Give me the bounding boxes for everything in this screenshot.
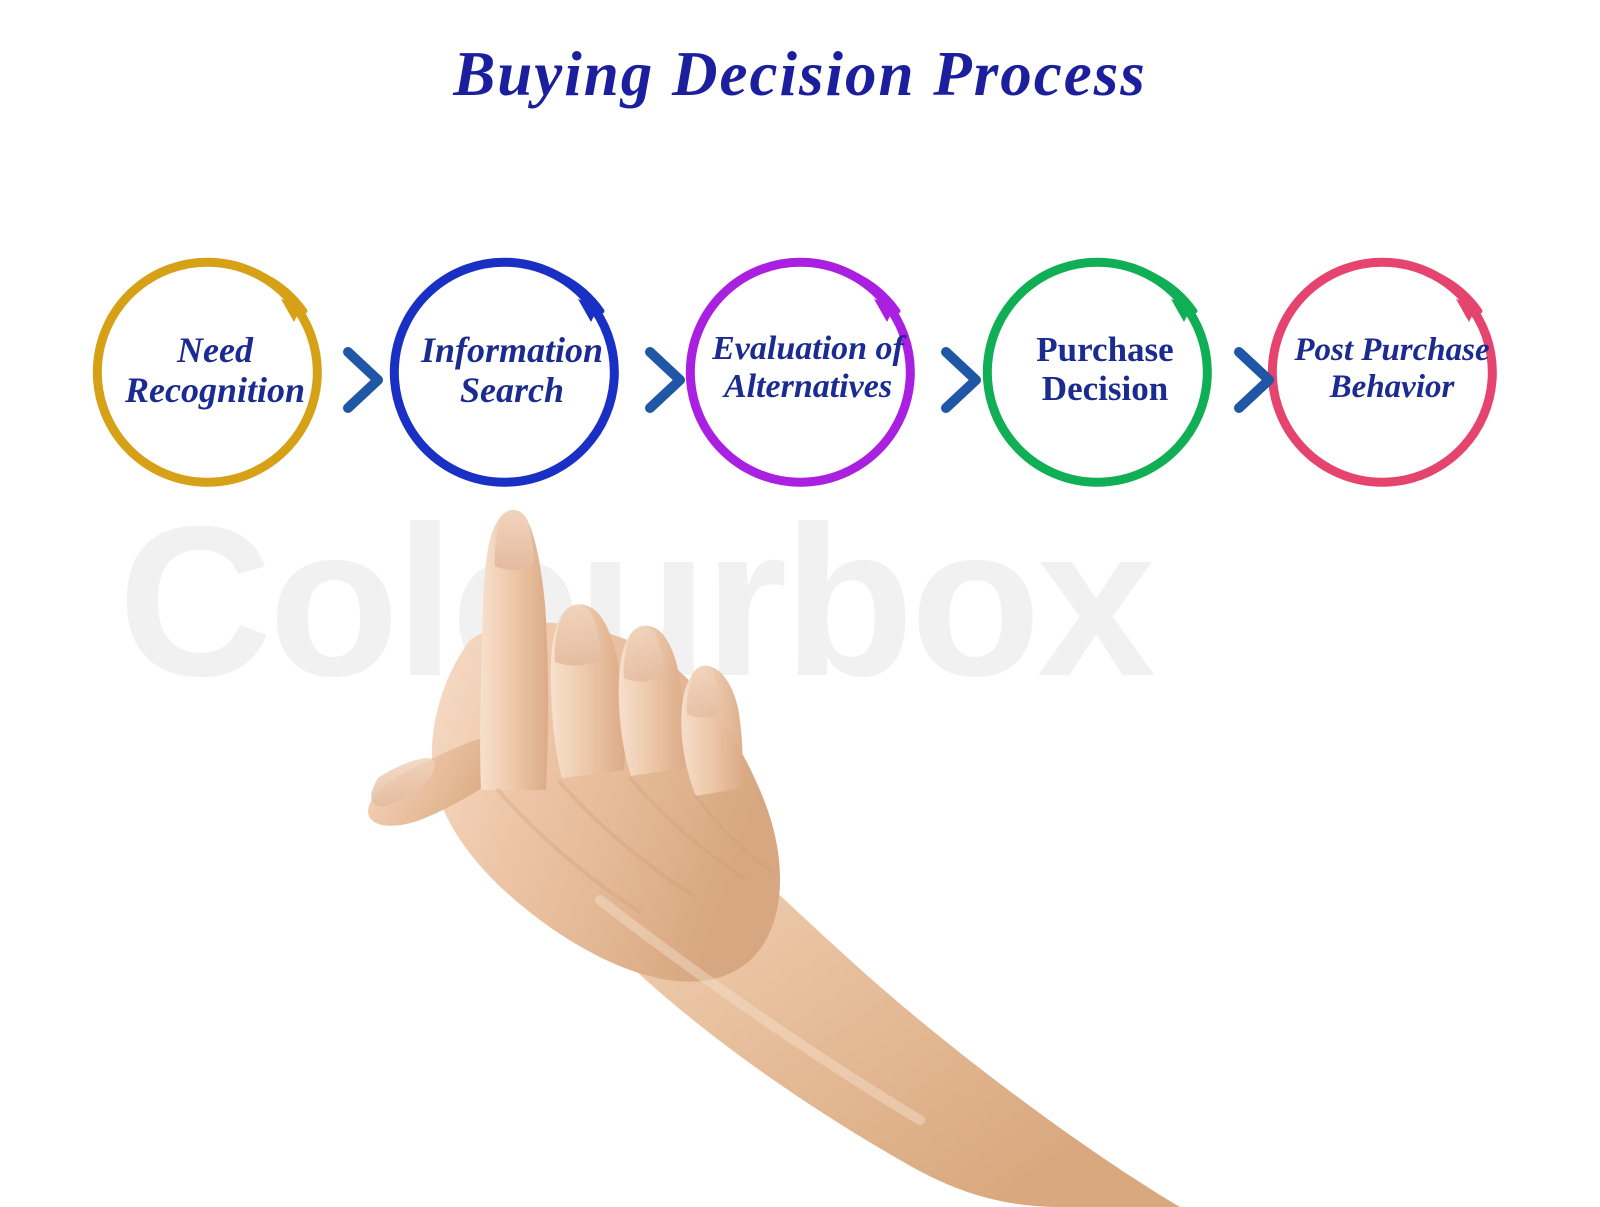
diagram-canvas: Colourbox Buying Decision Process (0, 0, 1600, 1207)
index-fingernail (495, 510, 534, 570)
pointing-hand-photo (0, 0, 1600, 1207)
